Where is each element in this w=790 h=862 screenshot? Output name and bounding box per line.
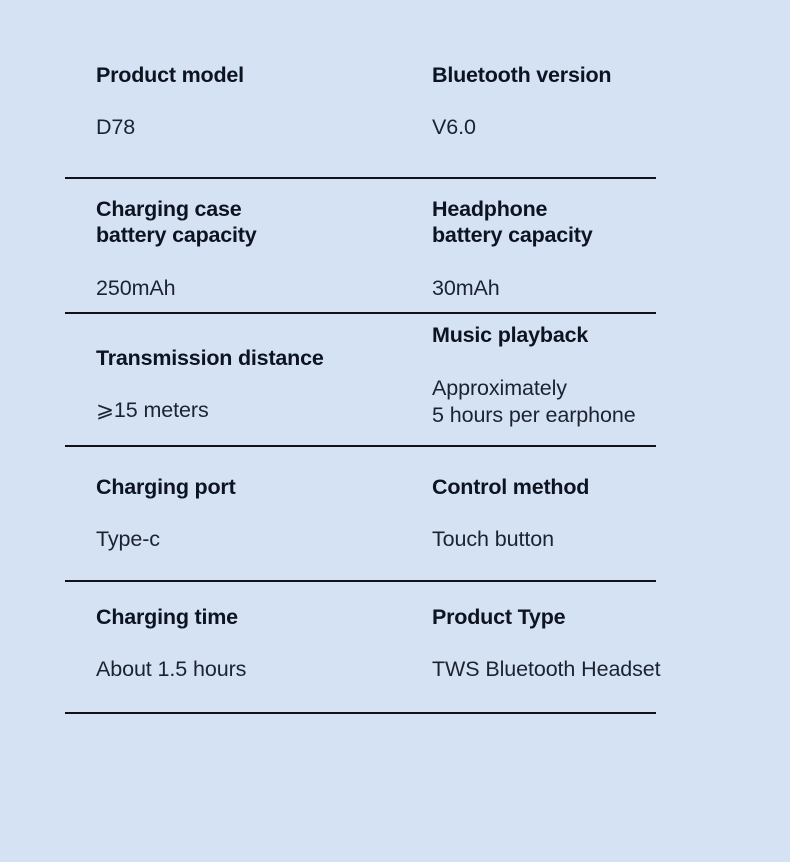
spec-cell-left: Charging port Type-c bbox=[96, 474, 432, 553]
spec-label: Control method bbox=[432, 474, 762, 500]
spec-value: 250mAh bbox=[96, 275, 432, 302]
spec-cell-left: Charging time About 1.5 hours bbox=[96, 604, 432, 683]
spec-label: Bluetooth version bbox=[432, 62, 762, 88]
spec-label: Charging port bbox=[96, 474, 432, 500]
spec-row: Transmission distance ⩾15 meters Music p… bbox=[0, 322, 790, 429]
spec-value: Touch button bbox=[432, 526, 762, 553]
row-divider bbox=[65, 712, 656, 714]
spec-cell-left: Transmission distance ⩾15 meters bbox=[96, 345, 432, 424]
row-divider bbox=[65, 312, 656, 314]
spec-row: Charging port Type-c Control method Touc… bbox=[0, 474, 790, 553]
spec-value: Type-c bbox=[96, 526, 432, 553]
spec-cell-right: Control method Touch button bbox=[432, 474, 762, 553]
row-divider bbox=[65, 445, 656, 447]
spec-cell-right: Product Type TWS Bluetooth Headset bbox=[432, 604, 762, 683]
spec-value: 30mAh bbox=[432, 275, 762, 302]
spec-label: Product model bbox=[96, 62, 432, 88]
spec-cell-left: Product model D78 bbox=[96, 62, 432, 141]
spec-cell-left: Charging case battery capacity 250mAh bbox=[96, 196, 432, 302]
spec-label: Headphone battery capacity bbox=[432, 196, 762, 248]
spec-value: Approximately 5 hours per earphone bbox=[432, 375, 762, 429]
spec-cell-right: Headphone battery capacity 30mAh bbox=[432, 196, 762, 302]
product-spec-sheet: Product model D78 Bluetooth version V6.0… bbox=[0, 0, 790, 862]
spec-row: Charging case battery capacity 250mAh He… bbox=[0, 196, 790, 302]
spec-label: Charging case battery capacity bbox=[96, 196, 432, 248]
spec-cell-right: Music playback Approximately 5 hours per… bbox=[432, 322, 762, 429]
spec-row: Product model D78 Bluetooth version V6.0 bbox=[0, 62, 790, 141]
spec-label: Music playback bbox=[432, 322, 762, 348]
spec-value: ⩾15 meters bbox=[96, 397, 432, 424]
spec-label: Product Type bbox=[432, 604, 762, 630]
spec-label: Charging time bbox=[96, 604, 432, 630]
spec-row: Charging time About 1.5 hours Product Ty… bbox=[0, 604, 790, 683]
spec-cell-right: Bluetooth version V6.0 bbox=[432, 62, 762, 141]
row-divider bbox=[65, 580, 656, 582]
spec-value: TWS Bluetooth Headset bbox=[432, 656, 762, 683]
spec-value: D78 bbox=[96, 114, 432, 141]
spec-value: About 1.5 hours bbox=[96, 656, 432, 683]
row-divider bbox=[65, 177, 656, 179]
spec-value: V6.0 bbox=[432, 114, 762, 141]
spec-label: Transmission distance bbox=[96, 345, 432, 371]
